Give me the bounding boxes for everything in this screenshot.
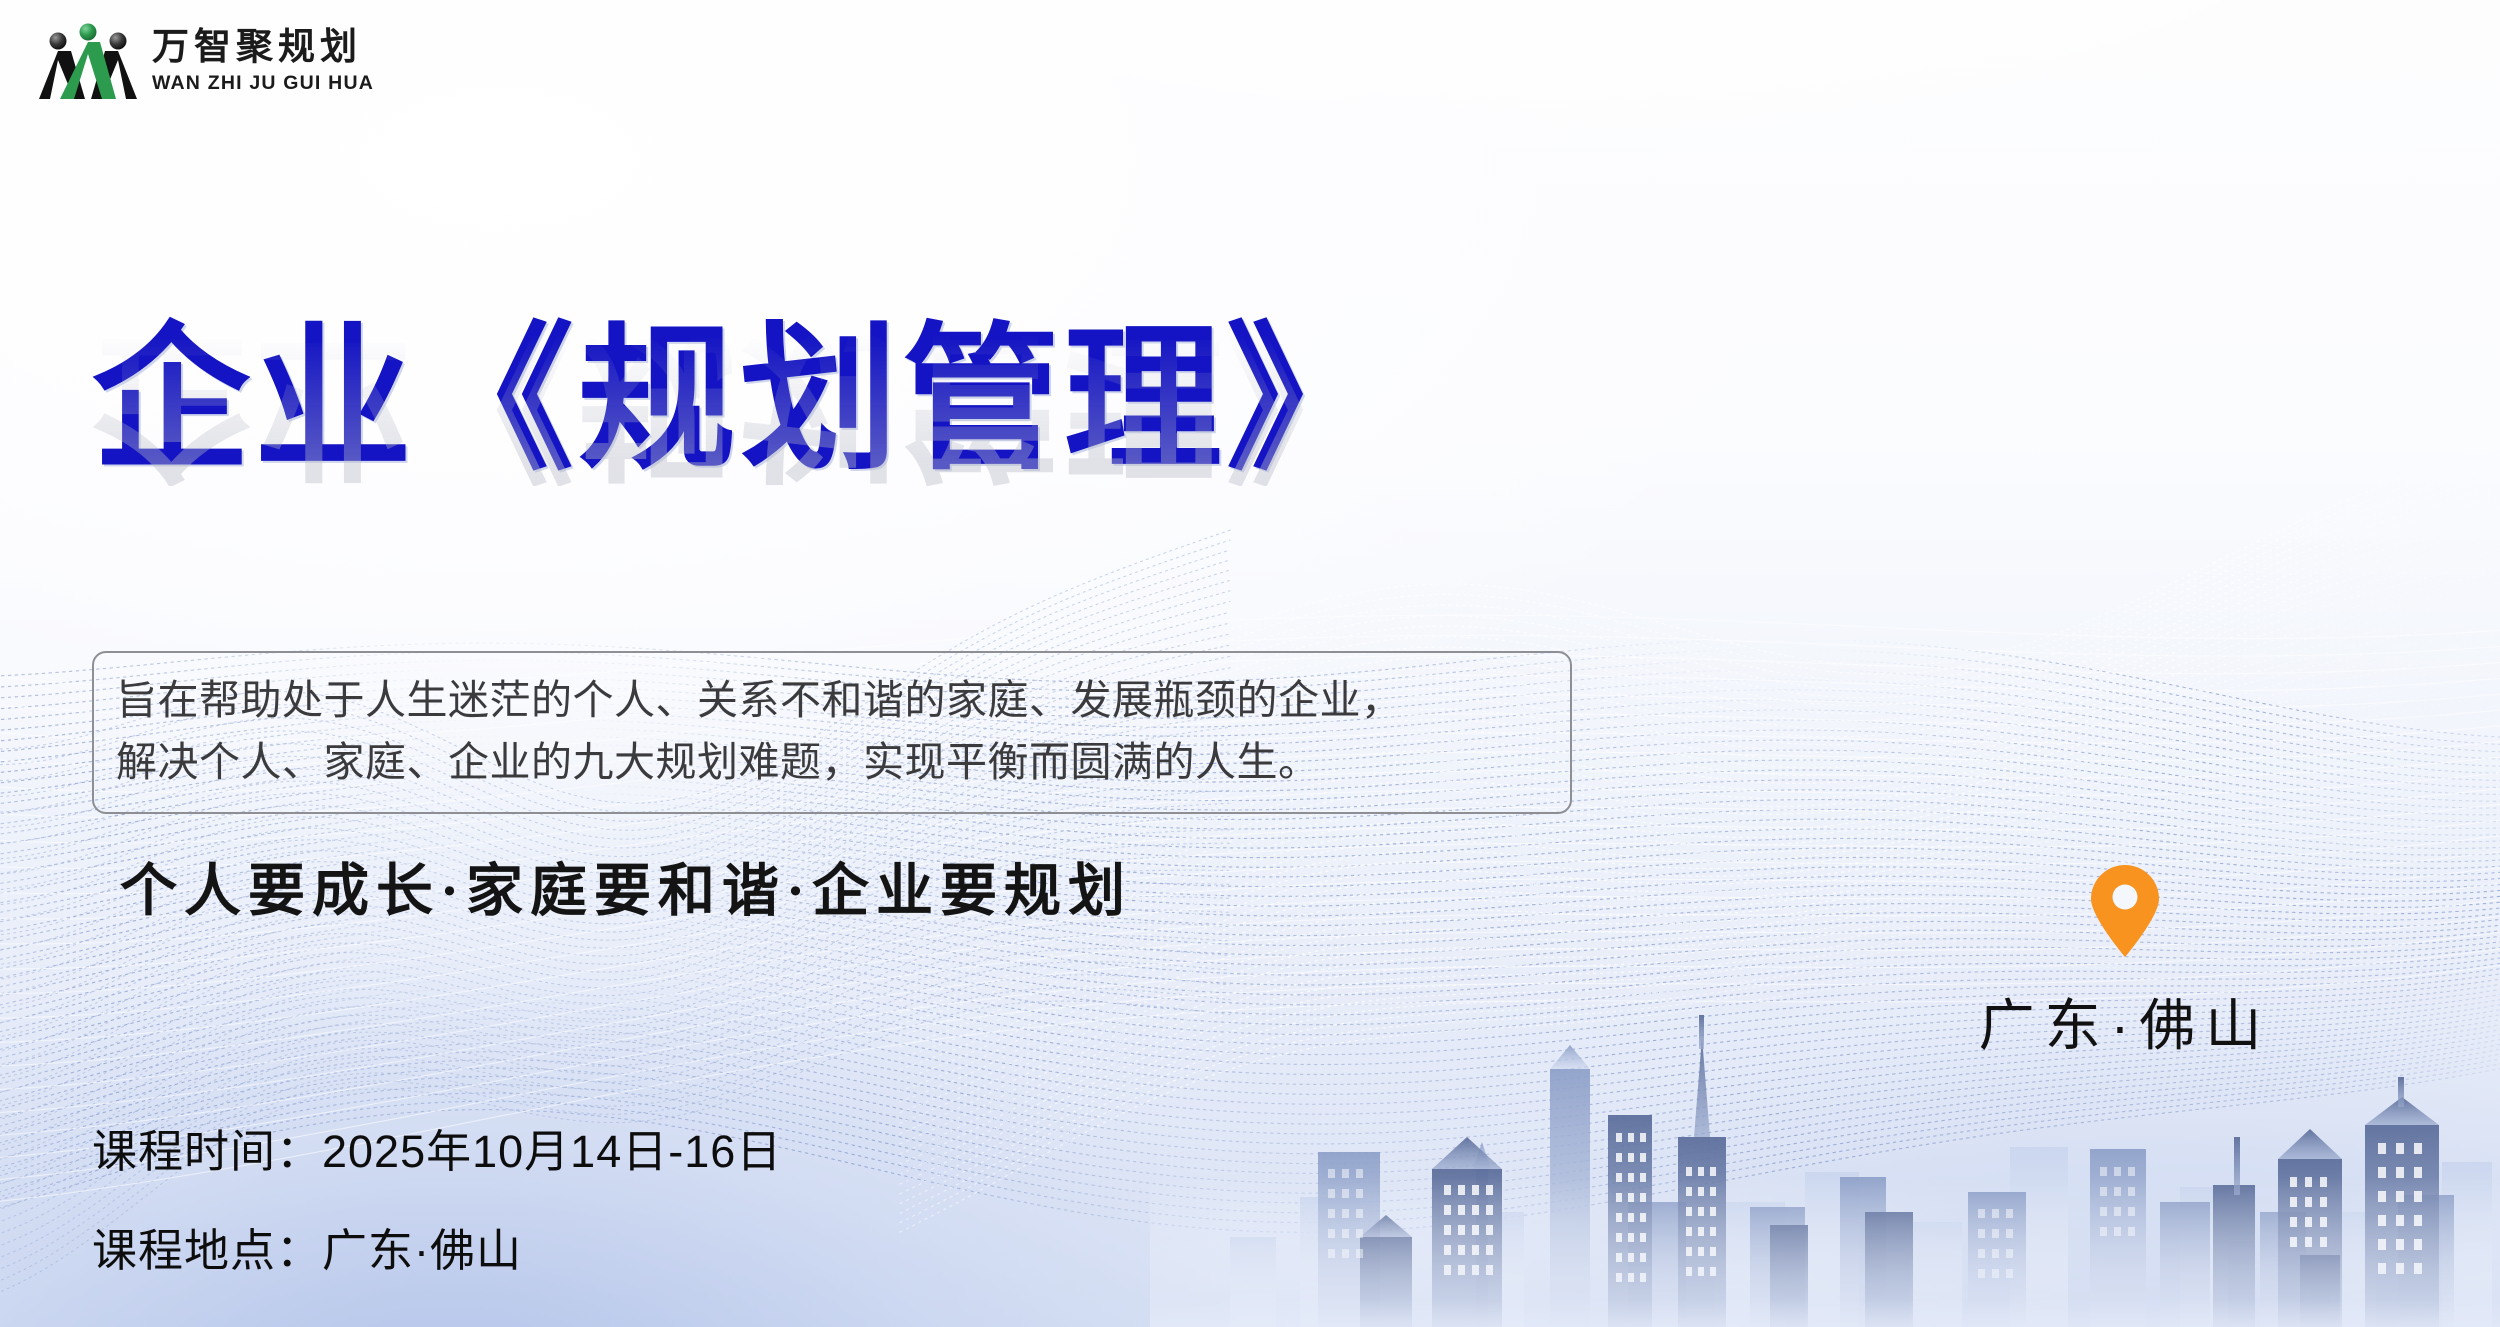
three-people-logo-icon [38,14,138,104]
brand-name-cn: 万智聚规划 [152,29,374,68]
brand-logo: 万智聚规划 WAN ZHI JU GUI HUA [38,14,374,104]
brand-name-en: WAN ZHI JU GUI HUA [152,72,374,95]
location-city-label: 广东·佛山 [1930,981,2320,1062]
map-pin-icon [2089,865,2161,957]
course-place-row: 课程地点：广东·佛山 [92,1214,782,1279]
brand-logo-text: 万智聚规划 WAN ZHI JU GUI HUA [152,23,374,96]
course-info-block: 课程时间：2025年10月14日-16日 课程地点：广东·佛山 [92,1115,782,1313]
course-time-row: 课程时间：2025年10月14日-16日 [92,1115,782,1180]
hero-title-block: 企业《规划管理》 企业《规划管理》 [92,318,1652,648]
poster-canvas: 万智聚规划 WAN ZHI JU GUI HUA 企业《规划管理》 企业《规划管… [0,0,2500,1327]
course-description-box: 旨在帮助处于人生迷茫的个人、关系不和谐的家庭、发展瓶颈的企业， 解决个人、家庭、… [92,651,1572,814]
hero-tagline: 个人要成长·家庭要和谐·企业要规划 [120,845,1132,927]
page-title-reflection: 企业《规划管理》 [92,320,1652,486]
course-description-line-2: 解决个人、家庭、企业的九大规划难题，实现平衡而圆满的人生。 [116,731,1548,793]
course-description-line-1: 旨在帮助处于人生迷茫的个人、关系不和谐的家庭、发展瓶颈的企业， [116,669,1548,731]
location-block: 广东·佛山 [1930,865,2320,1062]
